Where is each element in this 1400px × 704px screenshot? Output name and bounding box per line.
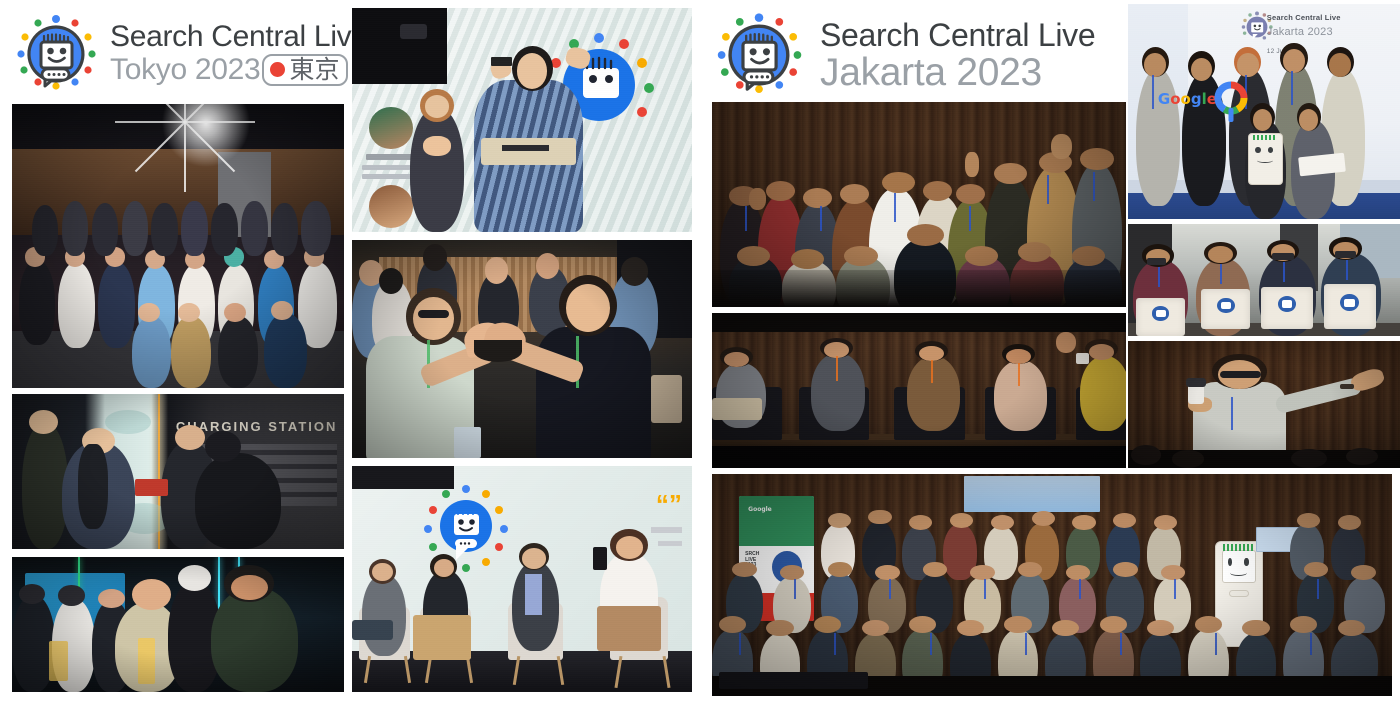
tokyo-logo-lockup: Search Central Live Tokyo 2023 東京: [12, 12, 368, 96]
tokyo-kanji-label: 東京: [289, 57, 339, 82]
jakarta-panel-photo: [712, 313, 1126, 468]
tokyo-section: Search Central Live Tokyo 2023 東京: [0, 0, 700, 704]
googlebot-mascot-icon: [12, 12, 100, 96]
tokyo-networking-photo: [12, 557, 344, 692]
jakarta-question-photo: [1128, 341, 1400, 468]
tokyo-stage-yukata-photo: [352, 8, 692, 232]
tokyo-heart-hands-photo: [352, 240, 692, 458]
jakarta-section: Search Central Live Jakarta 2023: [706, 0, 1400, 704]
tokyo-japan-badge: 東京: [262, 54, 348, 86]
jakarta-group-photo: Google SRCHLIVE2023: [712, 474, 1392, 696]
tokyo-panel-photo: “”: [352, 466, 692, 692]
collage-page: Search Central Live Tokyo 2023 東京: [0, 0, 1400, 704]
tokyo-title-line1: Search Central Live: [110, 22, 368, 52]
japan-flag-dot-icon: [270, 62, 285, 77]
jakarta-title-line2: Jakarta 2023: [820, 53, 1042, 92]
tokyo-charging-station-photo: CHARGING STATION: [12, 394, 344, 549]
googlebot-mascot-icon: [712, 10, 806, 100]
jakarta-logo-lockup: Search Central Live Jakarta 2023: [712, 10, 1095, 100]
tokyo-title-line2: Tokyo 2023: [110, 55, 260, 85]
jakarta-swag-photo: [1128, 224, 1400, 336]
tokyo-group-photo: [12, 104, 344, 388]
jakarta-photowall-photo: Search Central Live Jakarta 2023 12 July…: [1128, 4, 1400, 219]
jakarta-audience-photo: [712, 102, 1126, 307]
jakarta-title-line1: Search Central Live: [820, 19, 1095, 51]
